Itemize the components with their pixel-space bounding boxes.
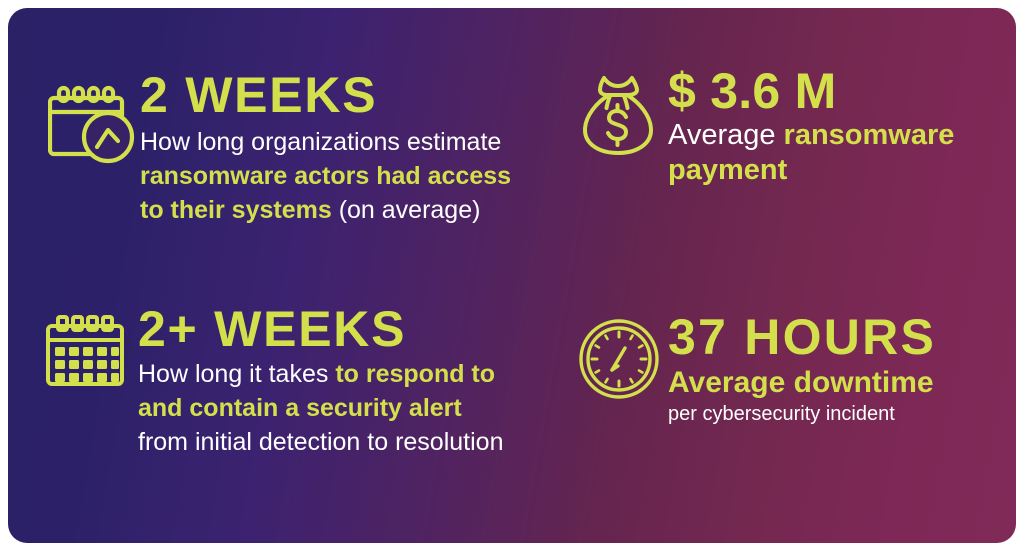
stat-headline: 37 HOURS (668, 312, 998, 362)
stat-headline: $ 3.6 M (668, 66, 1000, 116)
stat-block-response-time: 2+ WEEKS How long it takes to respond to… (46, 304, 516, 459)
stats-grid: 2 WEEKS How long organizations estimate … (8, 8, 1016, 543)
stat-text-dwell-time: 2 WEEKS How long organizations estimate … (140, 70, 518, 227)
stat-text-downtime: 37 HOURS Average downtime per cybersecur… (668, 312, 998, 427)
stat-headline: 2+ WEEKS (138, 304, 516, 354)
calendar-clock-icon (48, 70, 140, 168)
stat-body: Average ransomware payment (668, 118, 1000, 188)
stat-body: How long organizations estimate ransomwa… (140, 126, 518, 227)
stat-block-downtime: 37 HOURS Average downtime per cybersecur… (578, 312, 998, 427)
stat-headline: 2 WEEKS (140, 70, 518, 120)
stat-body: How long it takes to respond to and cont… (138, 358, 516, 459)
stat-caption: per cybersecurity incident (668, 401, 998, 427)
stat-block-dwell-time: 2 WEEKS How long organizations estimate … (48, 70, 518, 227)
clock-dial-icon (578, 312, 668, 400)
stat-text-ransom-payment: $ 3.6 M Average ransomware payment (668, 66, 1000, 188)
stat-text-response-time: 2+ WEEKS How long it takes to respond to… (138, 304, 516, 459)
stat-subhead: Average downtime (668, 366, 998, 401)
infographic-card: 2 WEEKS How long organizations estimate … (8, 8, 1016, 543)
money-bag-icon (580, 66, 668, 158)
calendar-grid-icon (46, 304, 138, 394)
stat-block-ransom-payment: $ 3.6 M Average ransomware payment (580, 66, 1000, 188)
